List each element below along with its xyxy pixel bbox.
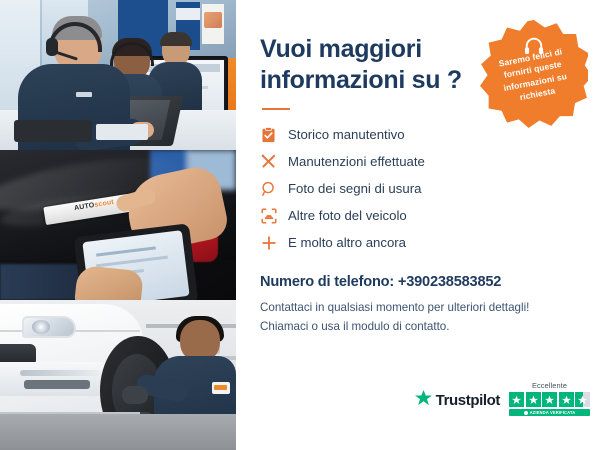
phone-number[interactable]: Numero di telefono: +390238583852 [260, 274, 578, 290]
content-panel: Vuoi maggiori informazioni su ? Saremo f… [236, 0, 600, 450]
plus-icon [260, 234, 277, 251]
feature-item-usura[interactable]: Foto dei segni di usura [260, 175, 578, 202]
star-3 [542, 392, 557, 407]
feature-item-manutenzioni[interactable]: Manutenzioni effettuate [260, 148, 578, 175]
feature-label: Foto dei segni di usura [288, 181, 421, 196]
star-2 [526, 392, 541, 407]
chrome-trim [20, 370, 100, 376]
clipboard-check-icon [260, 126, 277, 143]
contact-line-2: Chiamaci o usa il modulo di contatto. [260, 318, 578, 337]
garage-wheel-photo [0, 300, 236, 450]
star-5-half [575, 392, 590, 407]
star-4 [559, 392, 574, 407]
feature-label: Manutenzioni effettuate [288, 154, 425, 169]
info-request-banner: AUTOscout [0, 0, 600, 450]
feature-label: E molto altro ancora [288, 235, 406, 250]
keyboard-2 [96, 124, 148, 140]
contact-line-1: Contattaci in qualsiasi momento per ulte… [260, 299, 578, 318]
contact-description: Contattaci in qualsiasi momento per ulte… [260, 299, 578, 337]
photo-column: AUTOscout [0, 0, 236, 450]
bumper-vent [24, 380, 90, 389]
verified-label: AZIENDA VERIFICATA [530, 410, 576, 415]
verified-business-badge: AZIENDA VERIFICATA [509, 409, 590, 416]
feature-item-foto-veicolo[interactable]: Altre foto del veicolo [260, 202, 578, 229]
front-bumper [0, 362, 116, 396]
car-frame-icon [260, 207, 277, 224]
star-rating [509, 392, 590, 407]
feature-label: Altre foto del veicolo [288, 208, 407, 223]
glove-upper [122, 386, 148, 404]
call-center-photo [0, 0, 236, 150]
headlight-lens [32, 320, 50, 334]
uniform-badge-stripe [214, 385, 227, 390]
wall-poster-right-image [204, 12, 222, 28]
trustpilot-star-icon [415, 390, 432, 411]
trustpilot-wordmark: Trustpilot [436, 392, 500, 409]
callout-badge: Saremo felici di fornirti queste informa… [480, 20, 588, 128]
verified-check-icon [524, 411, 528, 415]
page-title: Vuoi maggiori informazioni su ? [260, 34, 470, 95]
hair [160, 32, 192, 46]
feature-label: Storico manutentivo [288, 127, 405, 142]
trustpilot-widget[interactable]: Trustpilot Eccellente [415, 381, 590, 416]
trustpilot-logo: Trustpilot [415, 390, 500, 416]
wall-poster-band [176, 8, 200, 20]
star-1 [509, 392, 524, 407]
rating-label: Eccellente [532, 381, 567, 390]
feature-list: Storico manutentivo Manutenzioni effettu… [260, 121, 578, 256]
polo-logo [76, 92, 92, 97]
feature-item-altro[interactable]: E molto altro ancora [260, 229, 578, 256]
vehicle-inspection-photo: AUTOscout [0, 150, 236, 300]
garage-floor [0, 414, 236, 450]
trustpilot-rating: Eccellente [509, 381, 590, 416]
magnifier-icon [260, 180, 277, 197]
keyboard [14, 120, 92, 142]
tools-cross-icon [260, 153, 277, 170]
title-divider [262, 108, 290, 110]
